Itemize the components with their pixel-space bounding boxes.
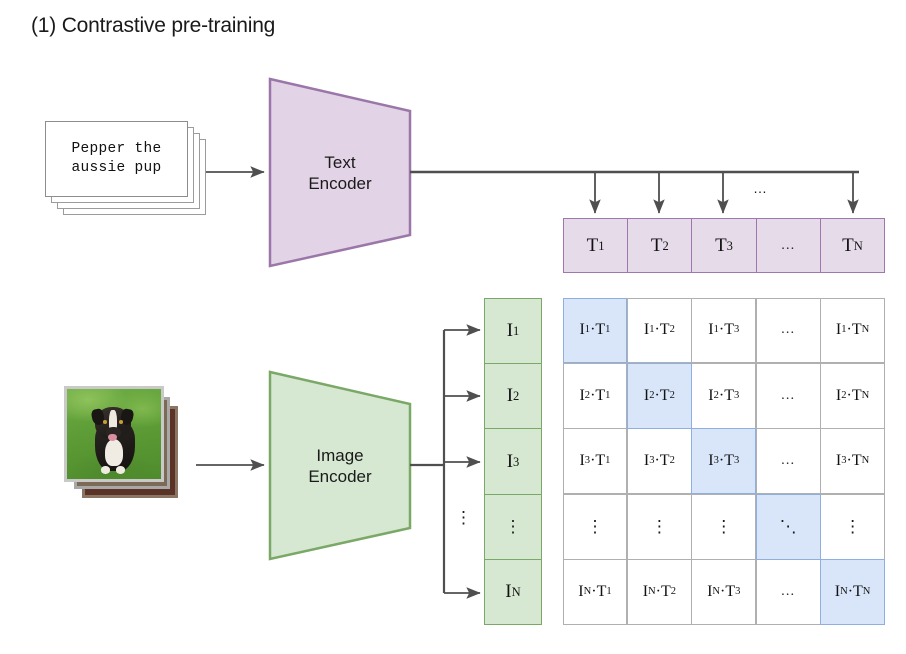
image-embedding-cell: I1: [484, 298, 542, 363]
matrix-cell-diagonal: I1·T1: [563, 298, 628, 364]
photo-thumbnail-puppy: [64, 386, 164, 482]
image-embedding-cell: IN: [484, 559, 542, 625]
matrix-cell: ⋮: [563, 494, 628, 560]
matrix-cell: ⋮: [691, 494, 756, 560]
matrix-cell: IN·T1: [563, 559, 628, 625]
matrix-cell: …: [756, 428, 821, 494]
image-encoder-line1: Image: [316, 446, 363, 465]
matrix-row: I3·T1I3·T2I3·T3…I3·TN: [563, 429, 885, 494]
text-caption-label: Pepper the aussie pup: [71, 140, 161, 178]
text-embedding-row: T1T2T3…TN: [563, 218, 885, 273]
image-input-stack: [64, 386, 188, 500]
matrix-cell: I3·TN: [820, 428, 885, 494]
matrix-cell: I3·T2: [627, 428, 692, 494]
matrix-cell: I3·T1: [563, 428, 628, 494]
text-embedding-cell: …: [756, 218, 820, 273]
matrix-cell: ⋮: [627, 494, 692, 560]
matrix-cell: ⋮: [820, 494, 885, 560]
text-embedding-cell: TN: [820, 218, 885, 273]
similarity-matrix: I1·T1I1·T2I1·T3…I1·TNI2·T1I2·T2I2·T3…I2·…: [563, 298, 885, 625]
matrix-row: IN·T1IN·T2IN·T3…IN·TN: [563, 560, 885, 625]
image-embedding-column: I1I2I3⋮IN: [484, 298, 542, 625]
image-encoder-label: Image Encoder: [308, 445, 371, 487]
matrix-cell: …: [756, 559, 821, 625]
matrix-cell: I1·TN: [820, 298, 885, 364]
image-embedding-cell: I2: [484, 363, 542, 428]
matrix-cell: I2·T1: [563, 363, 628, 429]
matrix-cell: …: [756, 363, 821, 429]
matrix-row: I2·T1I2·T2I2·T3…I2·TN: [563, 363, 885, 428]
matrix-cell: IN·T2: [627, 559, 692, 625]
text-encoder-line1: Text: [324, 153, 355, 172]
matrix-row: ⋮⋮⋮⋱⋮: [563, 494, 885, 559]
matrix-cell-diagonal: I3·T3: [691, 428, 756, 494]
matrix-cell-diagonal: I2·T2: [627, 363, 692, 429]
matrix-cell: IN·T3: [691, 559, 756, 625]
matrix-cell: …: [756, 298, 821, 364]
matrix-cell: I1·T3: [691, 298, 756, 364]
text-encoder-line2: Encoder: [308, 174, 371, 193]
text-embedding-cell: T2: [627, 218, 691, 273]
text-caption-card: Pepper the aussie pup: [45, 121, 188, 197]
image-embedding-cell: I3: [484, 428, 542, 493]
image-embedding-cell: ⋮: [484, 494, 542, 559]
matrix-cell-diagonal: ⋱: [756, 494, 821, 560]
matrix-row: I1·T1I1·T2I1·T3…I1·TN: [563, 298, 885, 363]
text-encoder-label: Text Encoder: [308, 152, 371, 194]
text-embedding-cell: T1: [563, 218, 627, 273]
text-embedding-cell: T3: [691, 218, 755, 273]
diagram-canvas: (1) Contrastive pre-training Pepper the …: [0, 0, 906, 654]
matrix-cell: I2·T3: [691, 363, 756, 429]
image-encoder-line2: Encoder: [308, 467, 371, 486]
puppy-photo-illustration: [67, 389, 161, 479]
text-bus-ellipsis: …: [753, 180, 768, 196]
matrix-cell: I2·TN: [820, 363, 885, 429]
matrix-cell: I1·T2: [627, 298, 692, 364]
matrix-cell-diagonal: IN·TN: [820, 559, 885, 625]
image-bus-ellipsis: ⋮: [455, 508, 472, 528]
